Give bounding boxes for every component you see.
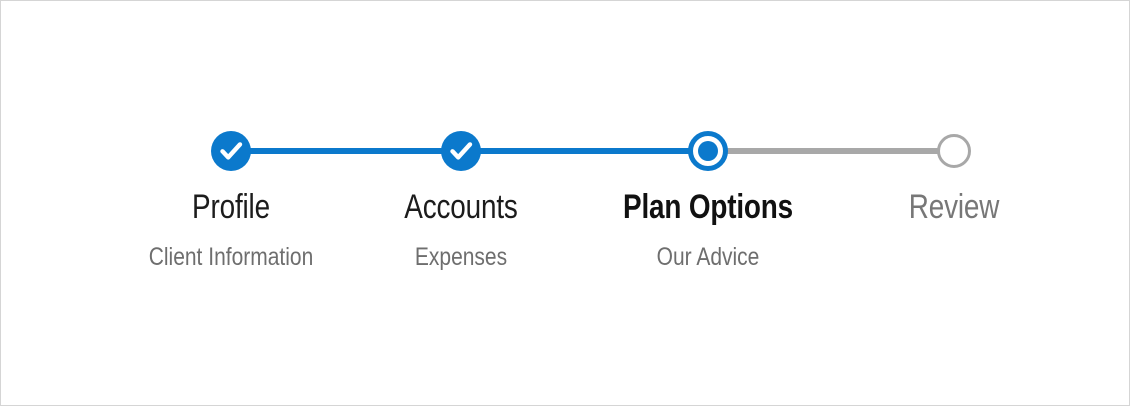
stepper-screen: Profile Client Information Accounts Expe… [0, 0, 1130, 406]
step-plan-options-indicator[interactable] [688, 131, 728, 171]
connector-plan-options-review [708, 148, 954, 154]
step-review-label: Review [831, 187, 1077, 227]
current-step-dot-icon [698, 141, 718, 161]
check-icon [211, 131, 251, 171]
step-accounts-sublabel: Expenses [335, 241, 587, 273]
step-profile-label: Profile [108, 187, 354, 227]
step-plan-options-label: Plan Options [585, 187, 831, 227]
empty-circle-icon [937, 134, 971, 168]
connector-profile-accounts [231, 148, 461, 154]
step-accounts-indicator[interactable] [441, 131, 481, 171]
step-review-indicator[interactable] [934, 134, 974, 174]
progress-stepper: Profile Client Information Accounts Expe… [1, 1, 1130, 406]
step-profile-sublabel: Client Information [105, 241, 357, 273]
check-icon [441, 131, 481, 171]
step-accounts-label: Accounts [338, 187, 584, 227]
step-profile-indicator[interactable] [211, 131, 251, 171]
step-plan-options-sublabel: Our Advice [582, 241, 834, 273]
connector-accounts-plan-options [461, 148, 708, 154]
